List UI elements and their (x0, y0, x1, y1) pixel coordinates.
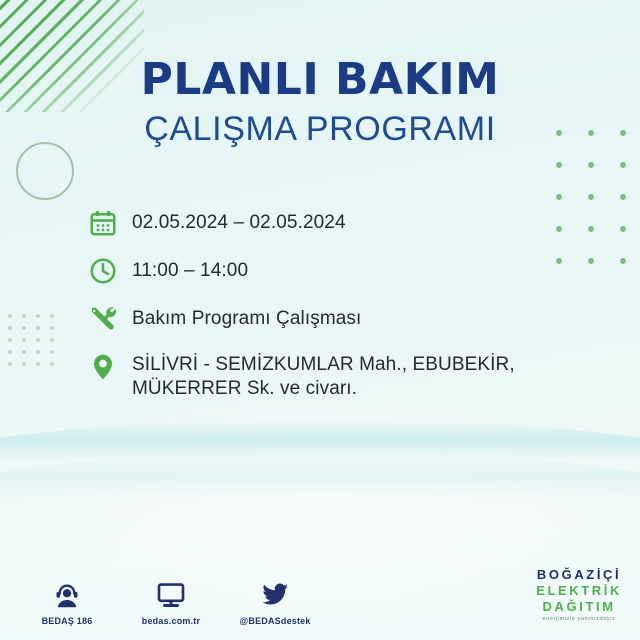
logo-tagline: enerjimizle yanınızdayız (536, 617, 622, 623)
dot-grid-left-decoration (8, 314, 64, 374)
detail-row-location: SİLİVRİ - SEMİZKUMLAR Mah., EBUBEKİR, MÜ… (86, 350, 626, 402)
location-pin-icon (86, 350, 120, 384)
wave-decoration-1 (0, 420, 640, 460)
detail-row-worktype: Bakım Programı Çalışması (86, 302, 626, 336)
bedas-logo: BOĞAZİÇİ ELEKTRİK DAĞITIM enerjimizle ya… (536, 568, 622, 623)
poster-header: PLANLI BAKIM ÇALIŞMA PROGRAMI (0, 58, 640, 146)
contact-twitter-label: @BEDASdestek (239, 616, 310, 626)
circle-outline-decoration (16, 142, 74, 200)
logo-line-elektrik: ELEKTRİK (536, 584, 622, 597)
support-agent-icon (52, 576, 82, 610)
maintenance-details-list: 02.05.2024 – 02.05.2024 11:00 – 14:00 Ba… (86, 206, 626, 416)
planned-maintenance-poster: PLANLI BAKIM ÇALIŞMA PROGRAMI 02 (0, 0, 640, 640)
detail-location: SİLİVRİ - SEMİZKUMLAR Mah., EBUBEKİR, MÜ… (132, 350, 626, 402)
contact-phone[interactable]: BEDAŞ 186 (28, 576, 106, 626)
logo-line-bogazici: BOĞAZİÇİ (536, 568, 622, 581)
monitor-icon (155, 576, 187, 610)
detail-time-range: 11:00 – 14:00 (132, 254, 248, 283)
detail-date-range: 02.05.2024 – 02.05.2024 (132, 206, 346, 235)
detail-work-type: Bakım Programı Çalışması (132, 302, 361, 331)
footer-contacts: BEDAŞ 186 bedas.com.tr @BEDASdestek (28, 576, 314, 626)
contact-website[interactable]: bedas.com.tr (132, 576, 210, 626)
page-title: PLANLI BAKIM (0, 58, 640, 102)
clock-icon (86, 254, 120, 288)
calendar-icon (86, 206, 120, 240)
contact-website-label: bedas.com.tr (142, 616, 200, 626)
wave-decoration-2 (0, 452, 640, 498)
contact-twitter[interactable]: @BEDASdestek (236, 576, 314, 626)
detail-row-time: 11:00 – 14:00 (86, 254, 626, 288)
tools-icon (86, 302, 120, 336)
page-subtitle: ÇALIŞMA PROGRAMI (0, 112, 640, 146)
logo-line-dagitim: DAĞITIM (536, 600, 622, 613)
contact-phone-label: BEDAŞ 186 (42, 616, 93, 626)
detail-row-date: 02.05.2024 – 02.05.2024 (86, 206, 626, 240)
twitter-bird-icon (259, 576, 291, 610)
